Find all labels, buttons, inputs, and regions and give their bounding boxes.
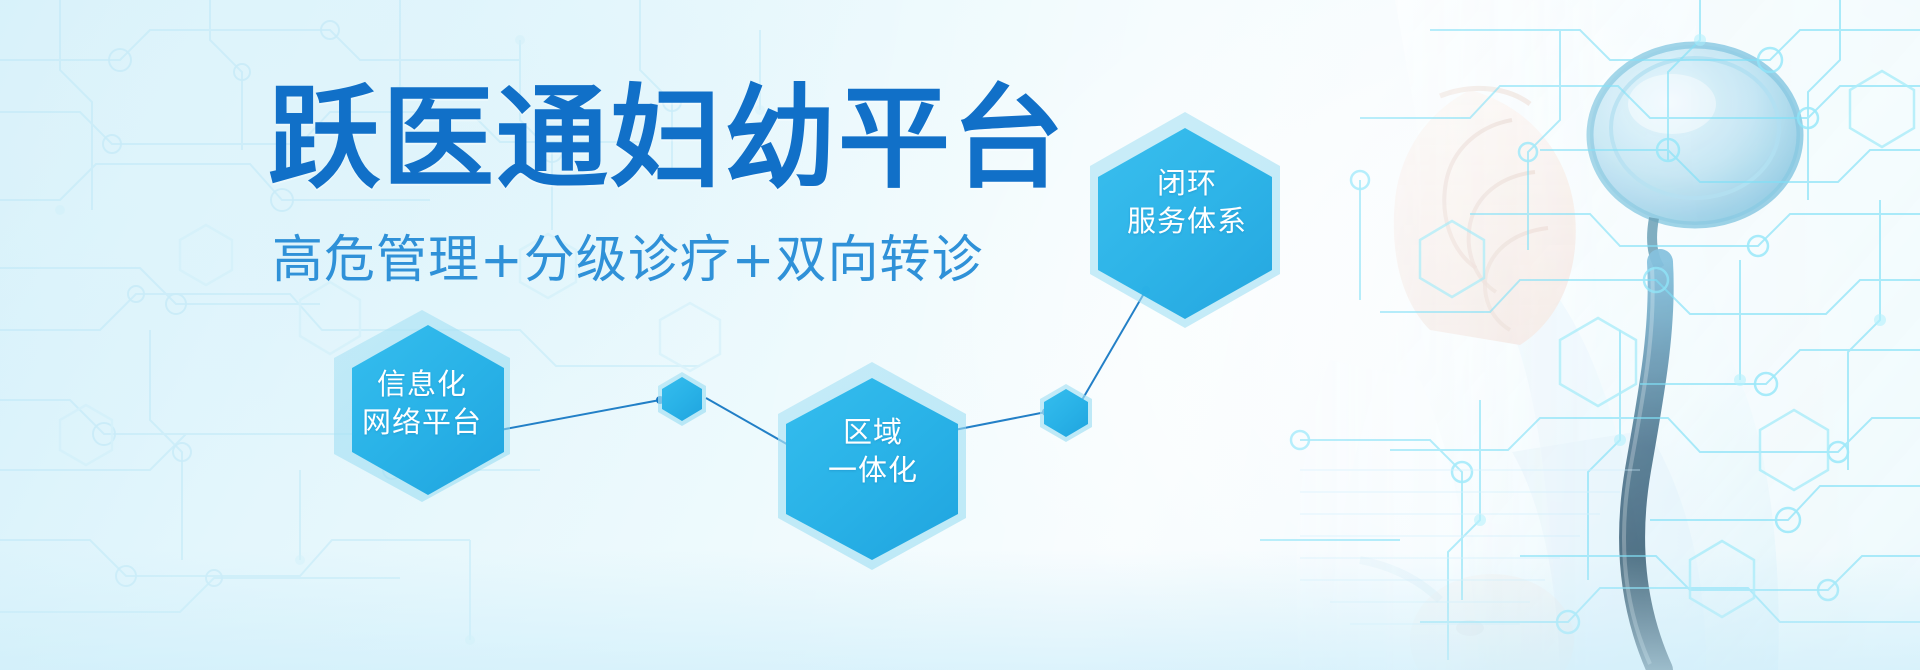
hex-connector-1 [658,372,706,426]
promo-banner: 跃医通妇幼平台 高危管理+分级诊疗+双向转诊 [0,0,1920,670]
hex-regional[interactable] [778,362,966,570]
hexagon-network [0,0,1920,670]
hex-connector-2 [1040,384,1092,442]
connector-line-4 [1082,290,1146,400]
hex-closedloop[interactable] [1090,112,1280,328]
hex-informatization[interactable] [334,310,510,502]
connector-line-1 [500,400,660,430]
